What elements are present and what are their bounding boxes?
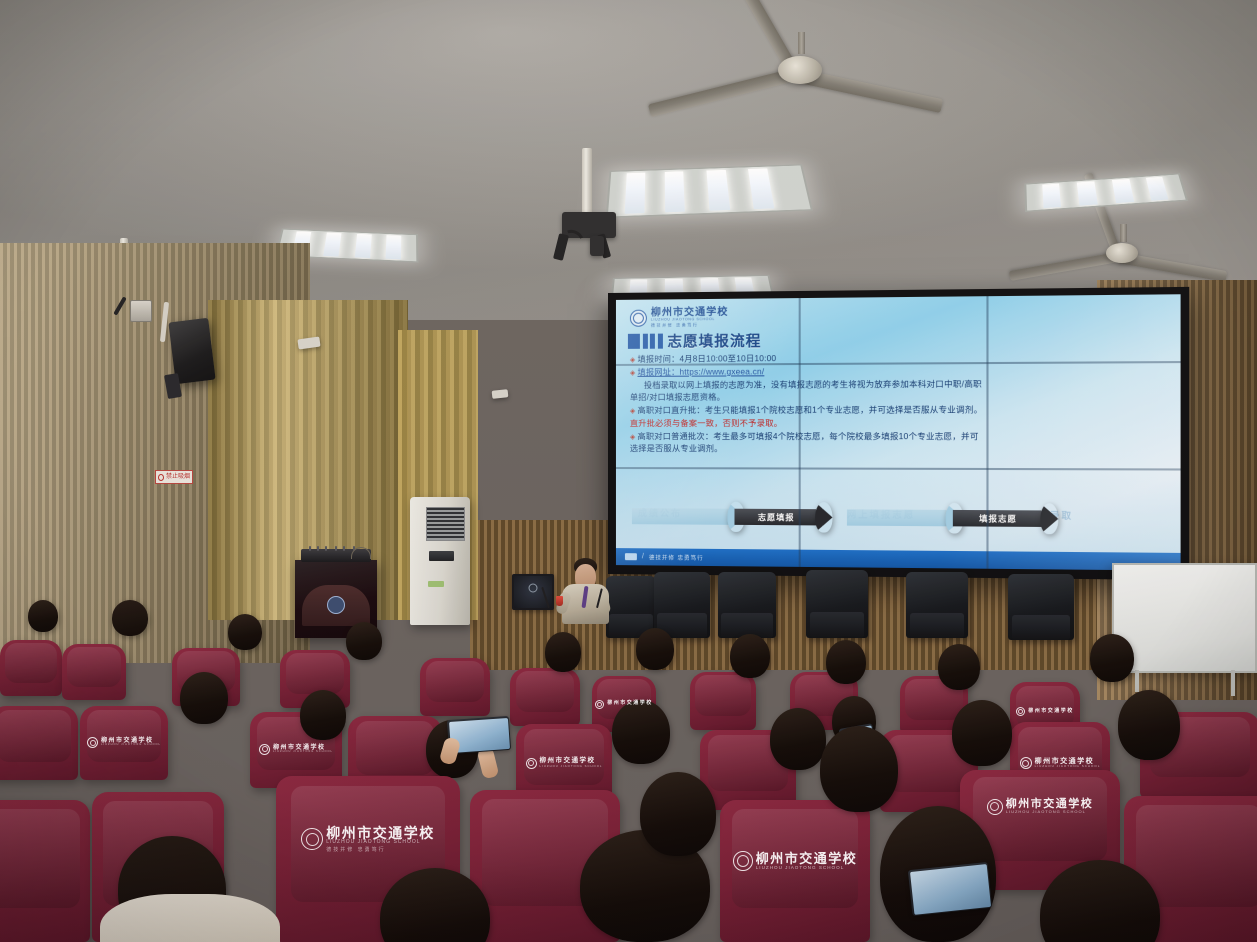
executive-chair <box>654 572 710 638</box>
audience-seat[interactable]: 柳州市交通学校 LIUZHOU JIAOTONG SCHOOL <box>80 706 168 780</box>
person-head <box>228 614 262 650</box>
person-head <box>112 600 148 636</box>
process-arrow: 填报志愿 <box>953 503 1058 535</box>
stage-chair-row <box>606 566 1126 638</box>
seat-brand-en: LIUZHOU JIAOTONG SCHOOL <box>1035 765 1101 768</box>
seat-brand-cn: 柳州市交通学校 <box>273 745 333 751</box>
seat-brand-cn: 柳州市交通学校 <box>540 758 603 765</box>
slide-title-row: 志愿填报流程 <box>628 330 761 352</box>
seat-brand-cn: 柳州市交通学校 <box>101 738 161 744</box>
slide-line-warning: 直升批必须与备案一致，否则不予录取。 <box>630 417 1170 430</box>
slide-title: 志愿填报流程 <box>667 330 761 352</box>
seat-brand-slogan: 德技并修 忠勇笃行 <box>326 848 435 853</box>
bullet-icon: ◈ <box>630 434 636 441</box>
seat-branding: 柳州市交通学校 <box>1010 707 1080 716</box>
smartphone[interactable] <box>908 862 992 916</box>
seat-brand-cn: 柳州市交通学校 <box>1035 758 1101 765</box>
person-head <box>545 632 581 672</box>
process-arrow-label: 填报志愿 <box>979 513 1017 525</box>
executive-chair <box>718 572 776 638</box>
light-panel <box>606 164 813 218</box>
seat-branding: 柳州市交通学校 LIUZHOU JIAOTONG SCHOOL 德技并修 忠勇笃… <box>276 826 460 853</box>
ac-control-panel[interactable] <box>429 551 454 561</box>
audience-seat[interactable] <box>690 672 756 730</box>
monitor-logo-icon <box>529 584 538 593</box>
audience-seat[interactable] <box>420 658 490 716</box>
audience-seat[interactable] <box>0 640 62 696</box>
drink-cup <box>556 596 563 606</box>
person-head <box>820 726 898 812</box>
seat-branding: 柳州市交通学校 LIUZHOU JIAOTONG SCHOOL <box>1010 757 1110 769</box>
person-head <box>952 700 1012 766</box>
person-head <box>1118 690 1180 760</box>
slide-logo-slogan: 德技并修 忠勇笃行 <box>651 323 729 328</box>
person-head <box>938 644 980 690</box>
person-head <box>826 640 866 684</box>
process-arrow <box>847 502 963 533</box>
seat-brand-en: LIUZHOU JIAOTONG SCHOOL <box>326 840 435 845</box>
podium-front-panel <box>302 585 371 626</box>
slide-line: ◈高职对口普通批次：考生最多可填报4个院校志愿，每个院校最多填报10个专业志愿，… <box>630 431 1170 444</box>
seat-branding: 柳州市交通学校 LIUZHOU JIAOTONG SCHOOL <box>960 799 1120 815</box>
bullet-icon: ◈ <box>630 370 636 377</box>
person-shoulders <box>100 894 280 942</box>
seat-branding: 柳州市交通学校 LIUZHOU JIAOTONG SCHOOL <box>80 737 168 748</box>
ac-brand-label <box>430 543 431 548</box>
seat-brand-en: LIUZHOU JIAOTONG SCHOOL <box>1006 810 1094 814</box>
audience-seat[interactable] <box>0 800 90 942</box>
projector-lens-box <box>590 236 604 256</box>
video-wall-screen[interactable]: 成绩公布 网上填报志愿 投档录取 柳州市交通学校 LIUZHOU JIAOTON… <box>616 294 1181 570</box>
person-head <box>640 772 716 856</box>
person-head <box>1090 634 1134 682</box>
whiteboard-leg <box>1231 670 1235 696</box>
audience-seat[interactable]: 柳州市交通学校 LIUZHOU JIAOTONG SCHOOL <box>720 800 870 942</box>
audience-seat[interactable] <box>510 668 580 726</box>
footer-text: 德技并修 忠勇笃行 <box>649 553 704 562</box>
process-arrow <box>632 501 745 532</box>
slide-body: ◈填报时间：4月8日10:00至10日10:00 ◈填报网址：https://w… <box>630 351 1170 457</box>
slide-line: ◈高职对口直升批：考生只能填报1个院校志愿和1个专业志愿，并可选择是否服从专业调… <box>630 404 1170 418</box>
person-head <box>612 700 670 764</box>
executive-chair <box>806 570 868 638</box>
projector-mount <box>582 148 592 218</box>
footer-slash: / <box>642 553 644 560</box>
video-wall[interactable]: 成绩公布 网上填报志愿 投档录取 柳州市交通学校 LIUZHOU JIAOTON… <box>608 287 1189 580</box>
school-seal-icon <box>327 596 345 614</box>
person-head <box>636 628 674 670</box>
footer-mark-icon <box>625 553 637 560</box>
title-accent-bars-icon <box>628 334 663 349</box>
executive-chair <box>906 572 968 638</box>
air-conditioner <box>410 497 470 625</box>
audience-seat[interactable] <box>62 644 126 700</box>
person-head <box>180 672 228 724</box>
video-wall-bezel <box>799 298 801 567</box>
slide-line: 单招/对口填报志愿资格。 <box>630 391 1170 405</box>
no-smoking-label: 禁止吸烟 <box>166 474 190 480</box>
audience-seat[interactable] <box>0 706 78 780</box>
seat-brand-cn: 柳州市交通学校 <box>1028 709 1074 714</box>
no-smoking-sign: 禁止吸烟 <box>155 470 193 484</box>
ac-logo-icon <box>428 581 444 587</box>
junction-box <box>130 300 152 322</box>
slide-school-logo: 柳州市交通学校 LIUZHOU JIAOTONG SCHOOL 德技并修 忠勇笃… <box>630 308 729 327</box>
person-head <box>346 622 382 660</box>
seat-brand-cn: 柳州市交通学校 <box>756 852 858 866</box>
seat-brand-cn: 柳州市交通学校 <box>1006 799 1094 811</box>
seat-branding: 柳州市交通学校 LIUZHOU JIAOTONG SCHOOL <box>516 758 612 769</box>
no-smoking-icon <box>158 474 164 481</box>
process-arrow: 志愿填报 <box>734 502 832 533</box>
seat-brand-en: LIUZHOU JIAOTONG SCHOOL <box>273 751 333 754</box>
executive-chair <box>1008 574 1074 640</box>
ac-vent-grille <box>426 507 466 540</box>
person-head <box>770 708 826 770</box>
bullet-icon: ◈ <box>630 408 636 415</box>
seat-branding: 柳州市交通学校 LIUZHOU JIAOTONG SCHOOL <box>720 851 870 871</box>
slide-process-arrows: 志愿填报 填报志愿 <box>626 495 1172 543</box>
seat-brand-cn: 柳州市交通学校 <box>326 826 435 841</box>
whiteboard-leg <box>1135 670 1139 692</box>
person-head <box>28 600 58 632</box>
person-head <box>300 690 346 740</box>
lecture-hall-photo: 禁止吸烟 成绩公布 网上填报志愿 投档录取 柳州市交通学校 LIUZHOU JI… <box>0 0 1257 942</box>
seat-brand-en: LIUZHOU JIAOTONG SCHOOL <box>756 866 858 871</box>
video-wall-bezel <box>987 296 989 569</box>
person-head <box>730 634 770 678</box>
process-arrow-label: 志愿填报 <box>758 511 795 522</box>
school-seal-icon <box>630 309 647 326</box>
seat-brand-en: LIUZHOU JIAOTONG SCHOOL <box>540 765 603 768</box>
seat-branding: 柳州市交通学校 LIUZHOU JIAOTONG SCHOOL <box>250 744 342 755</box>
seat-brand-en: LIUZHOU JIAOTONG SCHOOL <box>101 744 161 747</box>
slide-line: 选择是否服从专业调剂。 <box>630 444 1170 458</box>
security-camera <box>492 389 509 399</box>
